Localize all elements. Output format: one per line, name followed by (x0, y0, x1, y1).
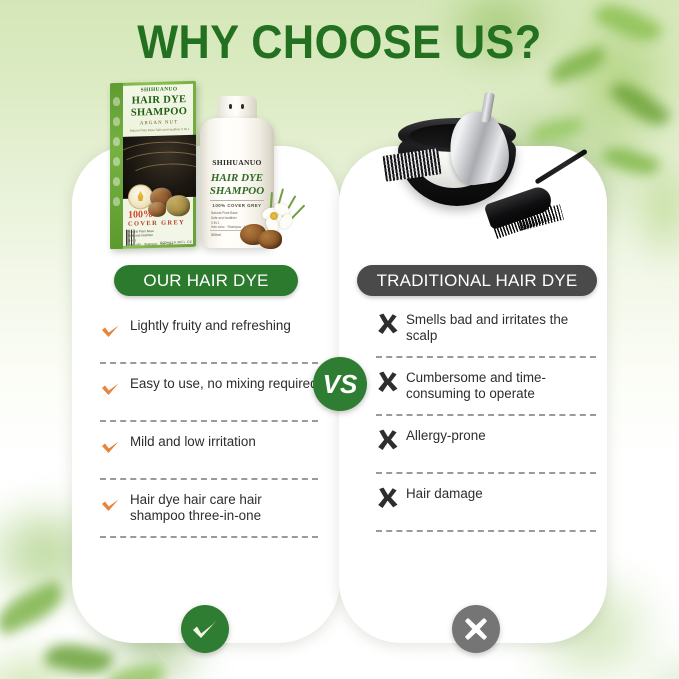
list-item: Hair dye hair care hair shampoo three-in… (100, 492, 318, 538)
box-title-line2: SHAMPOO (124, 106, 194, 119)
list-item: Cumbersome and time-consuming to operate (376, 370, 596, 416)
list-item-label: Easy to use, no mixing required (130, 376, 318, 392)
feature-list-traditional: Smells bad and irritates the scalp Cumbe… (376, 312, 596, 532)
box-barcode (126, 230, 135, 246)
box-spine (110, 83, 123, 249)
list-item-label: Hair damage (406, 486, 483, 502)
check-icon (100, 376, 130, 399)
list-item-label: Smells bad and irritates the scalp (406, 312, 596, 345)
our-product-image: SHIHUANUO HAIR DYE SHAMPOO ARGAN NUT Nat… (96, 76, 318, 256)
vs-badge: VS (313, 357, 367, 411)
check-icon (100, 318, 130, 341)
traditional-tools-image (380, 100, 602, 260)
result-badge-positive (181, 605, 229, 653)
result-badge-negative (452, 605, 500, 653)
list-item: Lightly fruity and refreshing (100, 318, 318, 364)
list-item-label: Allergy-prone (406, 428, 486, 444)
cross-icon (376, 312, 406, 335)
list-item: Easy to use, no mixing required (100, 376, 318, 422)
bottle-title-line1: HAIR DYE (200, 172, 274, 184)
product-box: SHIHUANUO HAIR DYE SHAMPOO ARGAN NUT Nat… (110, 81, 196, 249)
list-item: Mild and low irritation (100, 434, 318, 480)
cross-badge-icon (452, 605, 500, 653)
brush-handle (534, 149, 588, 185)
bottle-volume-ml: 500ml (211, 233, 221, 237)
check-badge-icon (181, 605, 229, 653)
box-claim-percent: 100% (128, 209, 153, 221)
cross-icon (376, 428, 406, 451)
box-volume: 500ml 16.90FL.OZ (161, 240, 192, 245)
feature-list-ours: Lightly fruity and refreshing Easy to us… (100, 318, 318, 538)
list-item-label: Lightly fruity and refreshing (130, 318, 291, 334)
list-item: Hair damage (376, 486, 596, 532)
list-item-label: Cumbersome and time-consuming to operate (406, 370, 596, 403)
box-title-line1: HAIR DYE (124, 94, 194, 107)
page-title: WHY CHOOSE US? (27, 14, 652, 69)
cross-icon (376, 370, 406, 393)
box-argan-nuts (146, 177, 194, 220)
bottle-brand: SHIHUANUO (200, 158, 274, 167)
cross-icon (376, 486, 406, 509)
list-item-label: Hair dye hair care hair shampoo three-in… (130, 492, 318, 525)
badge-our-hair-dye: OUR HAIR DYE (114, 265, 298, 296)
list-item-label: Mild and low irritation (130, 434, 256, 450)
list-item: Allergy-prone (376, 428, 596, 474)
check-icon (100, 434, 130, 457)
flower-decoration (248, 192, 310, 248)
badge-traditional-hair-dye: TRADITIONAL HAIR DYE (357, 265, 597, 296)
list-item: Smells bad and irritates the scalp (376, 312, 596, 358)
check-icon (100, 492, 130, 515)
